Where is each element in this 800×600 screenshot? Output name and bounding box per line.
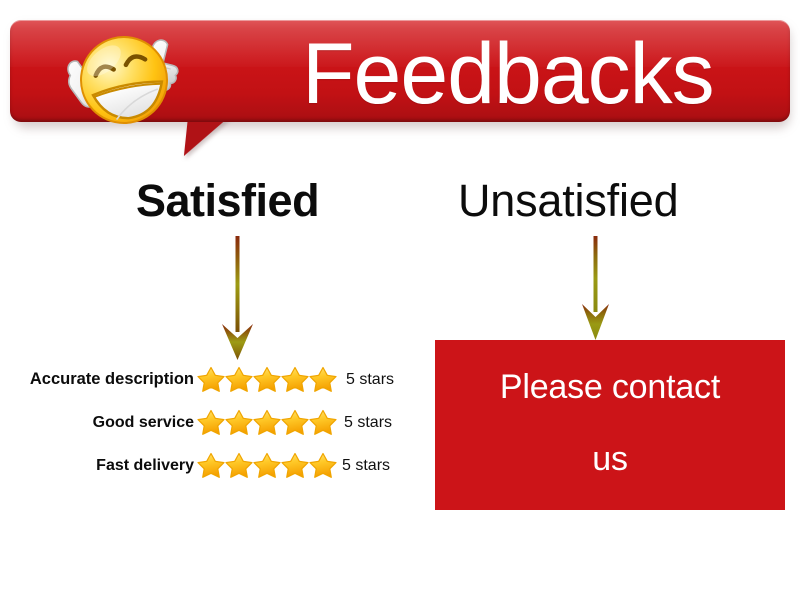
page-title: Feedbacks [302,26,714,122]
star-icon [224,451,254,480]
contact-message-line-1: Please contact [500,366,720,408]
rating-value: 5 stars [342,457,390,475]
laughing-smiley-thumbs-up-icon [50,26,210,148]
star-icon [224,365,254,394]
rating-value: 5 stars [346,371,394,389]
ratings-list: Accurate description 5 stars Good servic… [0,358,420,487]
rating-value: 5 stars [344,414,392,432]
rating-row: Fast delivery 5 stars [0,444,420,487]
rating-row: Accurate description 5 stars [0,358,420,401]
star-icon [280,365,310,394]
star-icon [196,451,226,480]
down-arrow-icon-satisfied [214,236,262,362]
star-icon [308,408,338,437]
rating-label: Good service [0,414,196,432]
rating-row: Good service 5 stars [0,401,420,444]
star-rating [196,365,336,394]
unsatisfied-heading: Unsatisfied [458,178,678,224]
rating-label: Fast delivery [0,457,196,475]
star-icon [280,451,310,480]
star-rating [196,408,336,437]
contact-message-line-2: us [592,438,628,480]
star-icon [224,408,254,437]
star-icon [252,451,282,480]
star-icon [252,365,282,394]
star-icon [196,408,226,437]
star-icon [280,408,310,437]
satisfied-heading: Satisfied [136,178,319,224]
feedback-graphic: Feedbacks [0,0,800,600]
star-icon [308,365,338,394]
down-arrow-icon-unsatisfied [572,236,620,342]
star-icon [196,365,226,394]
contact-us-box[interactable]: Please contact us [435,340,785,510]
star-icon [308,451,338,480]
star-rating [196,451,336,480]
feedback-banner: Feedbacks [10,20,790,128]
rating-label: Accurate description [0,370,196,389]
star-icon [252,408,282,437]
